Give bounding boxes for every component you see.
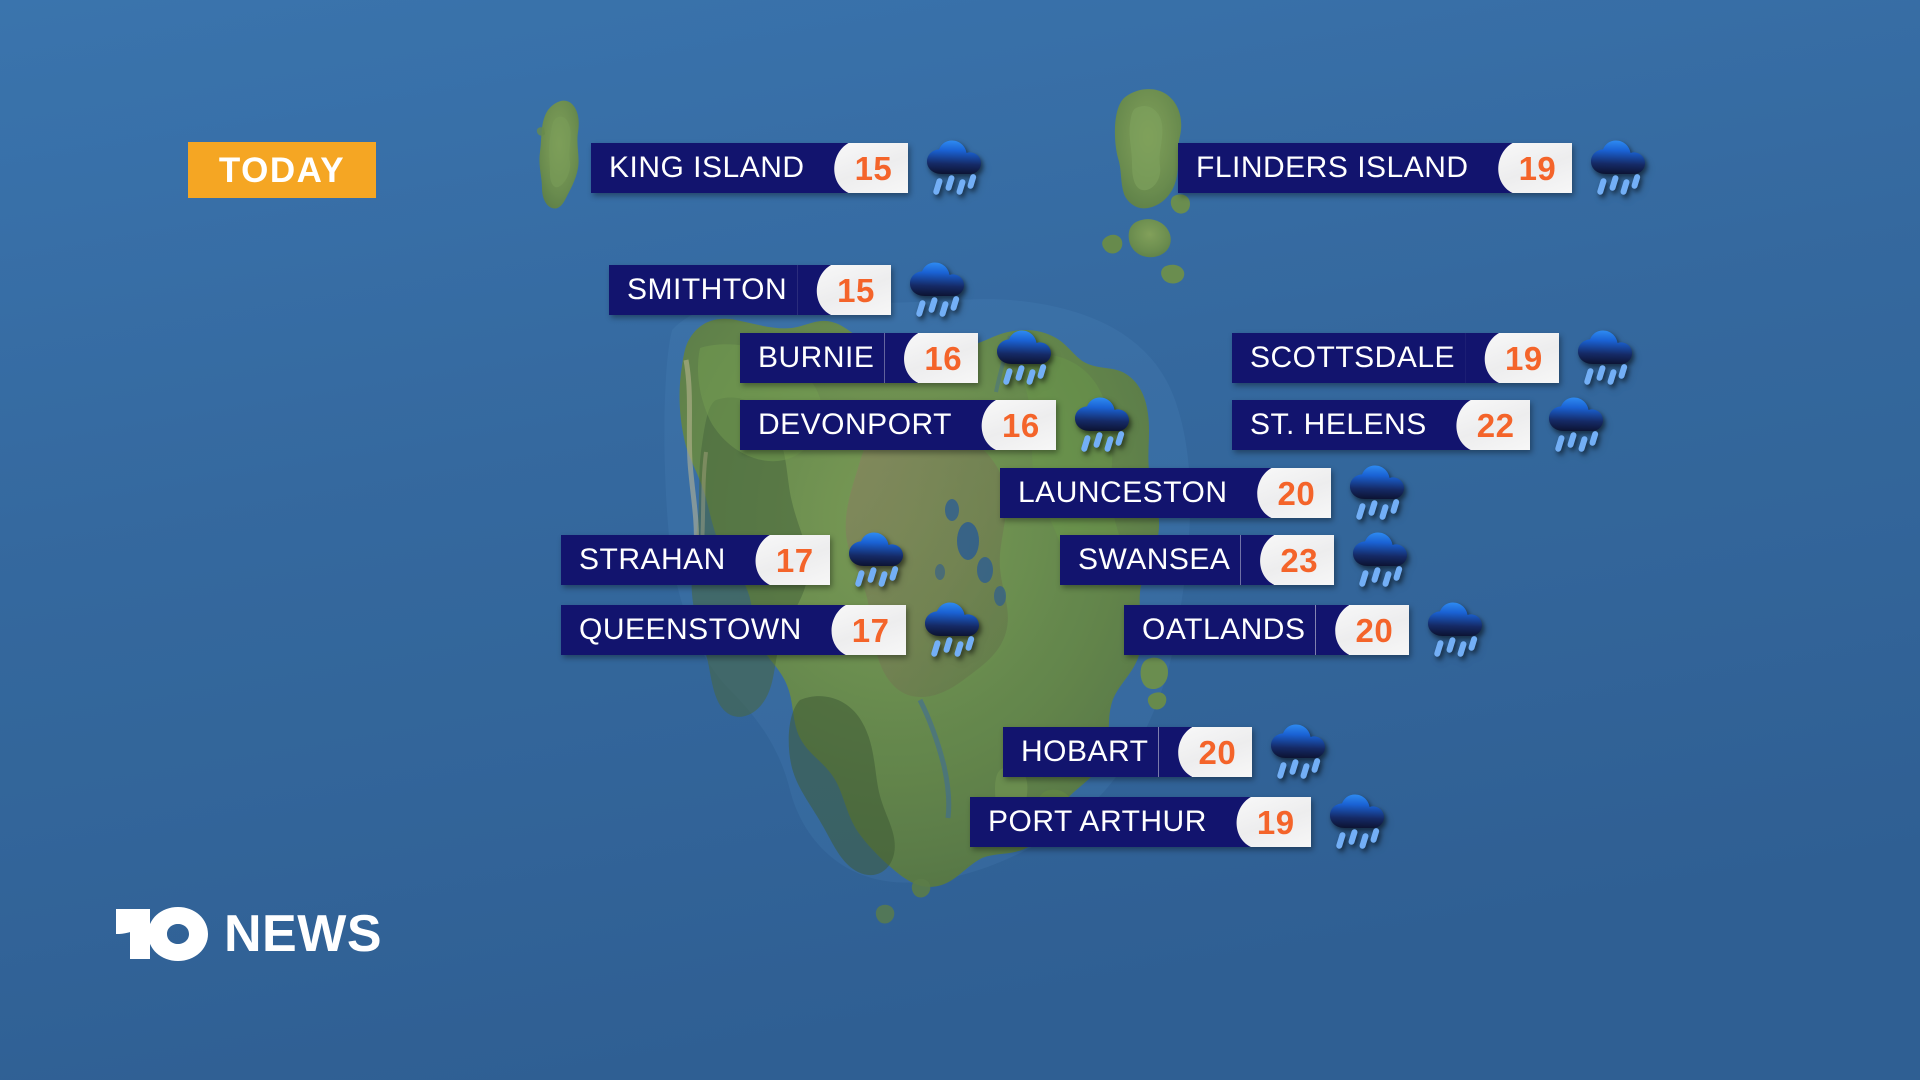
temperature-value: 15 [855,152,893,185]
city-forecast-pill[interactable]: STRAHAN 17 [561,535,908,585]
city-forecast-pill[interactable]: OATLANDS 20 [1124,605,1487,655]
pill-body: KING ISLAND 15 [591,143,908,193]
city-name: STRAHAN [561,535,736,585]
rain-cloud-icon [922,140,986,196]
rain-cloud-icon [1325,794,1389,850]
pill-body: BURNIE 16 [740,333,978,383]
city-name: ST. HELENS [1232,400,1437,450]
pill-body: SMITHTON 15 [609,265,891,315]
rain-cloud-icon [1544,397,1608,453]
rain-cloud-icon [1348,532,1412,588]
rain-cloud-icon [844,532,908,588]
city-name: LAUNCESTON [1000,468,1238,518]
temperature-value: 20 [1355,614,1393,647]
pill-body: LAUNCESTON 20 [1000,468,1331,518]
city-name: SWANSEA [1060,535,1240,585]
city-forecast-pill[interactable]: LAUNCESTON 20 [1000,468,1409,518]
pill-body: DEVONPORT 16 [740,400,1056,450]
temperature-value: 16 [924,342,962,375]
city-forecast-pill[interactable]: FLINDERS ISLAND 19 [1178,143,1650,193]
city-name: BURNIE [740,333,884,383]
city-forecast-pill[interactable]: SCOTTSDALE 19 [1232,333,1637,383]
temperature-value: 19 [1257,806,1295,839]
city-forecast-pill[interactable]: ST. HELENS 22 [1232,400,1608,450]
city-name: FLINDERS ISLAND [1178,143,1479,193]
city-name: SCOTTSDALE [1232,333,1465,383]
city-forecast-pill[interactable]: SWANSEA 23 [1060,535,1412,585]
city-name: OATLANDS [1124,605,1315,655]
rain-cloud-icon [1345,465,1409,521]
pill-body: HOBART 20 [1003,727,1252,777]
pill-body: QUEENSTOWN 17 [561,605,906,655]
pill-body: STRAHAN 17 [561,535,830,585]
temperature-value: 17 [852,614,890,647]
ten-logo-icon [110,903,214,965]
rain-cloud-icon [1070,397,1134,453]
rain-cloud-icon [905,262,969,318]
pill-body: SCOTTSDALE 19 [1232,333,1559,383]
temperature-value: 22 [1477,409,1515,442]
rain-cloud-icon [920,602,984,658]
city-forecast-pill[interactable]: HOBART 20 [1003,727,1330,777]
city-forecast-pill[interactable]: BURNIE 16 [740,333,1056,383]
temperature-value: 15 [837,274,875,307]
temperature-value: 20 [1278,477,1316,510]
temperature-value: 23 [1280,544,1318,577]
city-name: SMITHTON [609,265,797,315]
rain-cloud-icon [992,330,1056,386]
temperature-value: 19 [1519,152,1557,185]
city-name: HOBART [1003,727,1158,777]
pill-body: OATLANDS 20 [1124,605,1409,655]
rain-cloud-icon [1266,724,1330,780]
pill-body: SWANSEA 23 [1060,535,1334,585]
pill-body: PORT ARTHUR 19 [970,797,1311,847]
today-badge-label: TODAY [219,153,345,188]
temperature-value: 17 [776,544,814,577]
rain-cloud-icon [1573,330,1637,386]
city-forecast-pill[interactable]: KING ISLAND 15 [591,143,986,193]
city-name: KING ISLAND [591,143,815,193]
rain-cloud-icon [1586,140,1650,196]
today-badge: TODAY [188,142,376,198]
network-logo-word: NEWS [224,908,382,960]
pill-body: FLINDERS ISLAND 19 [1178,143,1572,193]
network-logo: NEWS [110,903,382,965]
city-name: QUEENSTOWN [561,605,812,655]
temperature-value: 19 [1505,342,1543,375]
temperature-value: 16 [1002,409,1040,442]
pill-body: ST. HELENS 22 [1232,400,1530,450]
city-forecast-pill[interactable]: SMITHTON 15 [609,265,969,315]
city-name: DEVONPORT [740,400,962,450]
rain-cloud-icon [1423,602,1487,658]
city-forecast-pill[interactable]: PORT ARTHUR 19 [970,797,1389,847]
city-name: PORT ARTHUR [970,797,1217,847]
city-forecast-pill[interactable]: QUEENSTOWN 17 [561,605,984,655]
city-forecast-pill[interactable]: DEVONPORT 16 [740,400,1134,450]
temperature-value: 20 [1198,736,1236,769]
